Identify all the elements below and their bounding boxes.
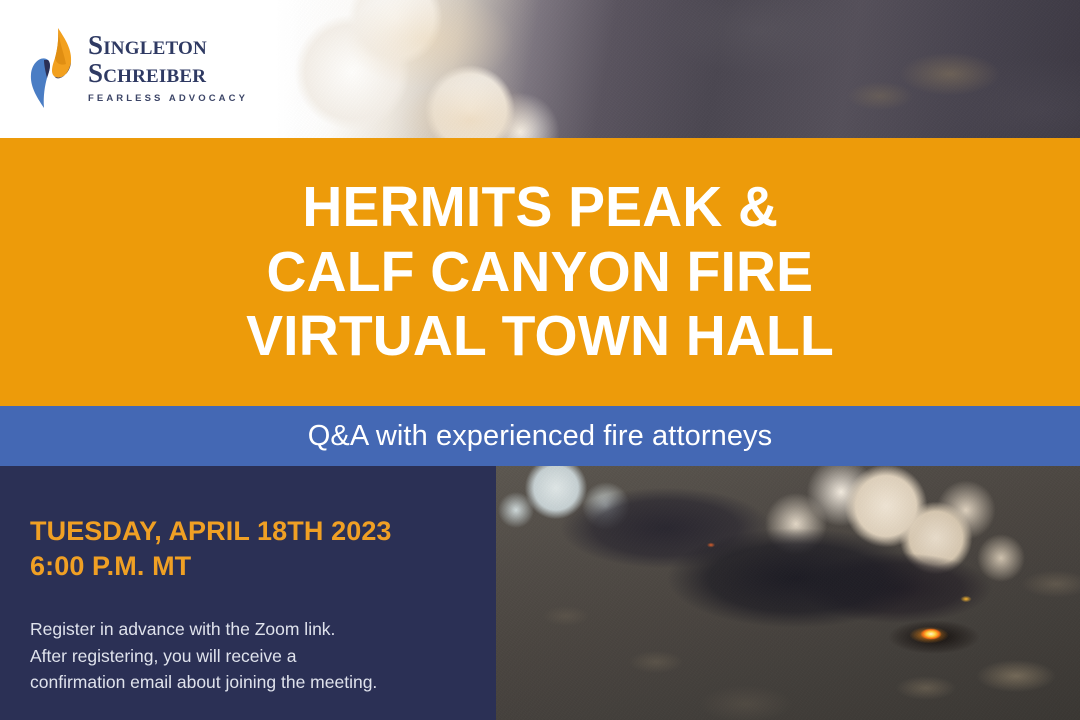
title-line-2: CALF CANYON FIRE (267, 240, 814, 304)
registration-line-1: Register in advance with the Zoom link. (30, 616, 480, 643)
brand-name-line-2: Schreiber (88, 60, 248, 87)
brand-name-line-1: Singleton (88, 32, 248, 59)
title-band: HERMITS PEAK & CALF CANYON FIRE VIRTUAL … (0, 138, 1080, 406)
top-photo-band: Singleton Schreiber FEARLESS ADVOCACY (0, 0, 1080, 138)
brand-logo[interactable]: Singleton Schreiber FEARLESS ADVOCACY (26, 26, 248, 110)
subtitle-band: Q&A with experienced fire attorneys (0, 406, 1080, 466)
event-datetime: TUESDAY, APRIL 18TH 2023 6:00 P.M. MT (30, 514, 392, 584)
brand-wordmark: Singleton Schreiber FEARLESS ADVOCACY (88, 32, 248, 104)
event-flyer: Singleton Schreiber FEARLESS ADVOCACY HE… (0, 0, 1080, 720)
event-details-panel: TUESDAY, APRIL 18TH 2023 6:00 P.M. MT Re… (0, 466, 496, 720)
brand-tagline: FEARLESS ADVOCACY (88, 94, 248, 104)
registration-line-2: After registering, you will receive a (30, 643, 480, 670)
title-line-3: VIRTUAL TOWN HALL (246, 304, 834, 368)
title-line-1: HERMITS PEAK & (302, 175, 778, 239)
subtitle-text: Q&A with experienced fire attorneys (308, 420, 773, 453)
wildfire-aerial-photo-with-flames (496, 466, 1080, 720)
details-band: TUESDAY, APRIL 18TH 2023 6:00 P.M. MT Re… (0, 466, 1080, 720)
registration-line-3: confirmation email about joining the mee… (30, 669, 480, 696)
fire-photo-grain (496, 466, 1080, 720)
event-time: 6:00 P.M. MT (30, 549, 392, 584)
event-date: TUESDAY, APRIL 18TH 2023 (30, 514, 392, 549)
registration-instructions: Register in advance with the Zoom link. … (30, 616, 480, 696)
flame-icon (26, 26, 76, 110)
